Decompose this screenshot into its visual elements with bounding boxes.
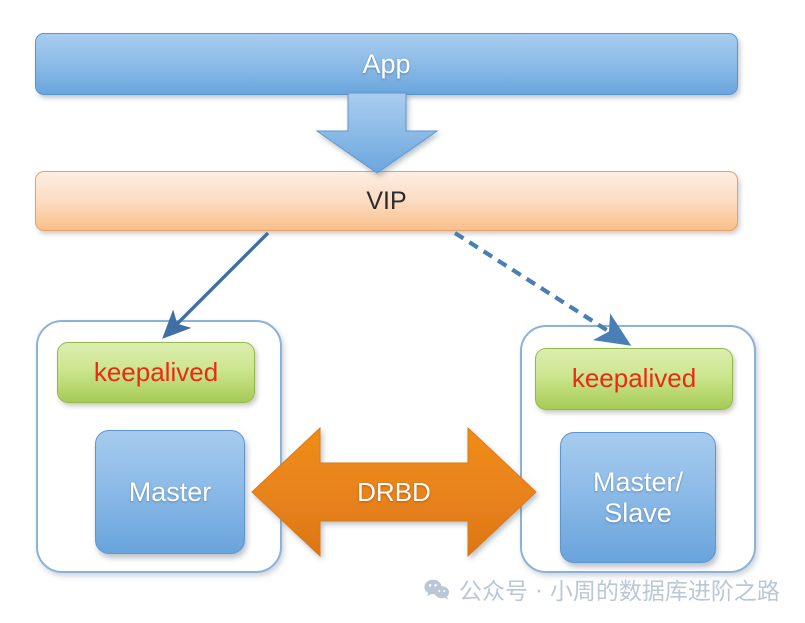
wechat-icon bbox=[424, 579, 450, 600]
keepalived-label-primary: keepalived bbox=[94, 358, 218, 387]
watermark: 公众号 · 小周的数据库进阶之路 bbox=[424, 572, 780, 606]
vip-node: VIP bbox=[35, 171, 738, 231]
database-label-primary-line1: Master bbox=[129, 477, 212, 507]
drbd-label-text: DRBD bbox=[357, 477, 431, 508]
database-node-standby: Master/ Slave bbox=[560, 432, 716, 563]
connector-app-to-vip bbox=[317, 93, 437, 173]
vip-node-label: VIP bbox=[366, 187, 406, 215]
database-node-primary: Master bbox=[95, 430, 245, 554]
keepalived-node-primary: keepalived bbox=[57, 342, 255, 403]
drbd-label: DRBD bbox=[252, 470, 536, 514]
diagram-canvas: App VIP keepalived keepalived Master Mas… bbox=[0, 0, 805, 623]
database-label-standby-line2: Slave bbox=[604, 498, 672, 528]
keepalived-node-standby: keepalived bbox=[535, 348, 733, 410]
database-label-standby-line1: Master/ bbox=[593, 467, 683, 497]
keepalived-label-standby: keepalived bbox=[572, 364, 696, 393]
app-node-label: App bbox=[362, 49, 410, 79]
watermark-text: 公众号 · 小周的数据库进阶之路 bbox=[459, 572, 780, 606]
app-node: App bbox=[35, 33, 738, 95]
